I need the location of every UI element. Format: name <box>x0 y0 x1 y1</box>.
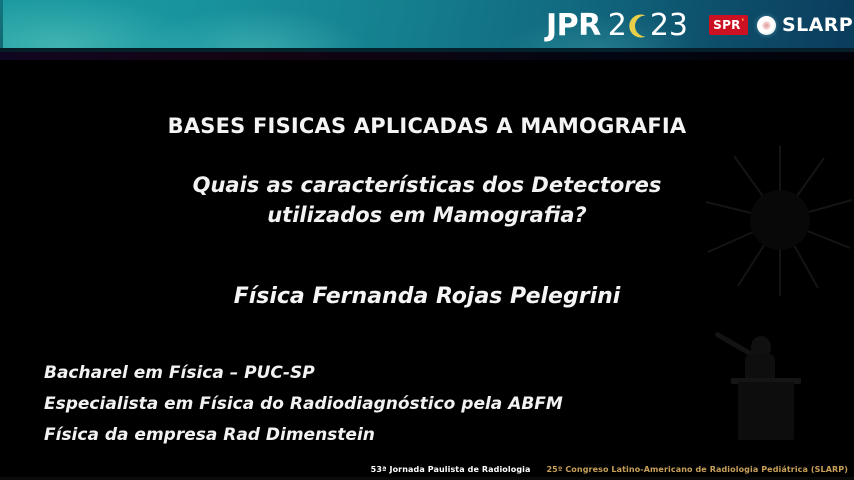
presenter-credentials: Bacharel em Física – PUC-SP Especialista… <box>44 358 604 451</box>
presenter-name: Física Fernanda Rojas Pelegrini <box>0 284 854 309</box>
slarp-logo: SLARP <box>757 14 853 36</box>
footer-event-slarp: 25º Congreso Latino-Americano de Radiolo… <box>547 465 849 474</box>
credential-line: Física da empresa Rad Dimenstein <box>44 420 604 451</box>
slarp-label: SLARP <box>782 14 853 36</box>
slide-subtitle: Quais as características dos Detectores … <box>0 170 854 230</box>
spr-label: SPR <box>713 18 741 32</box>
background-speaker-podium-decoration <box>718 330 833 440</box>
jpr-logo: JPR 2 23 <box>546 10 688 42</box>
footer-event-jpr: 53ª Jornada Paulista de Radiologia <box>371 465 531 474</box>
jpr-year-prefix: 2 <box>608 11 627 41</box>
crescent-moon-icon <box>628 13 649 39</box>
jpr-brand-text: JPR <box>546 11 601 41</box>
header-left-edge <box>0 0 3 50</box>
spr-logo-badge: SPR ' <box>709 15 748 35</box>
slide-subtitle-line-1: Quais as características dos Detectores <box>0 170 854 200</box>
slide-title: BASES FISICAS APLICADAS A MAMOGRAFIA <box>0 114 854 138</box>
globe-circle-icon <box>757 16 776 35</box>
presentation-slide: JPR 2 23 SPR ' SLARP BASES FISICAS APLIC… <box>0 0 854 480</box>
background-glow <box>0 52 854 60</box>
credential-line: Bacharel em Física – PUC-SP <box>44 358 604 389</box>
header-underline <box>0 48 854 52</box>
credential-line: Especialista em Física do Radiodiagnósti… <box>44 389 604 420</box>
jpr-year-suffix: 23 <box>650 11 688 41</box>
spr-mark: ' <box>742 18 744 27</box>
slide-subtitle-line-2: utilizados em Mamografia? <box>0 200 854 230</box>
